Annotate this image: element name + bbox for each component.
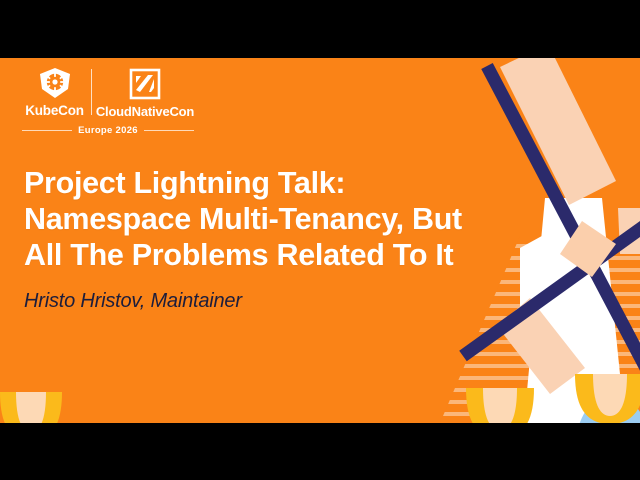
logo-row: KubeCon CloudNativeCon (22, 64, 194, 120)
talk-title: Project Lightning Talk: Namespace Multi-… (24, 166, 494, 274)
talk-title-line-1: Project Lightning Talk: (24, 166, 345, 200)
kubecon-cloudnativecon-logo: KubeCon CloudNativeCon (22, 64, 194, 136)
edition-rule-right (144, 130, 194, 131)
kubecon-logo: KubeCon (22, 66, 87, 118)
slide-frame: KubeCon CloudNativeCon (0, 0, 640, 480)
cloudnativecon-square-icon (129, 67, 161, 101)
cloudnativecon-logo: CloudNativeCon (96, 67, 194, 118)
letterbox-bottom (0, 423, 640, 480)
letterbox-top (0, 0, 640, 58)
windmill-body (520, 198, 625, 423)
kubecon-wordmark: KubeCon (25, 104, 84, 118)
edition-rule-left (22, 130, 72, 131)
slide-canvas: KubeCon CloudNativeCon (0, 58, 640, 423)
speaker-byline: Hristo Hristov, Maintainer (24, 290, 494, 313)
logo-edition: Europe 2026 (22, 125, 194, 136)
tulip-cluster-left (0, 392, 182, 423)
kubernetes-helm-icon (38, 66, 72, 100)
cloudnativecon-wordmark: CloudNativeCon (96, 105, 194, 118)
tulip-cluster-right (415, 374, 640, 423)
title-block: Project Lightning Talk: Namespace Multi-… (24, 166, 494, 313)
logo-divider (91, 69, 92, 115)
talk-title-line-3: All The Problems Related To It (24, 238, 453, 272)
windmill-hub (560, 221, 616, 277)
talk-title-line-2: Namespace Multi-Tenancy, But (24, 202, 462, 236)
windmill-sails (497, 58, 640, 394)
edition-label: Europe 2026 (78, 125, 138, 136)
